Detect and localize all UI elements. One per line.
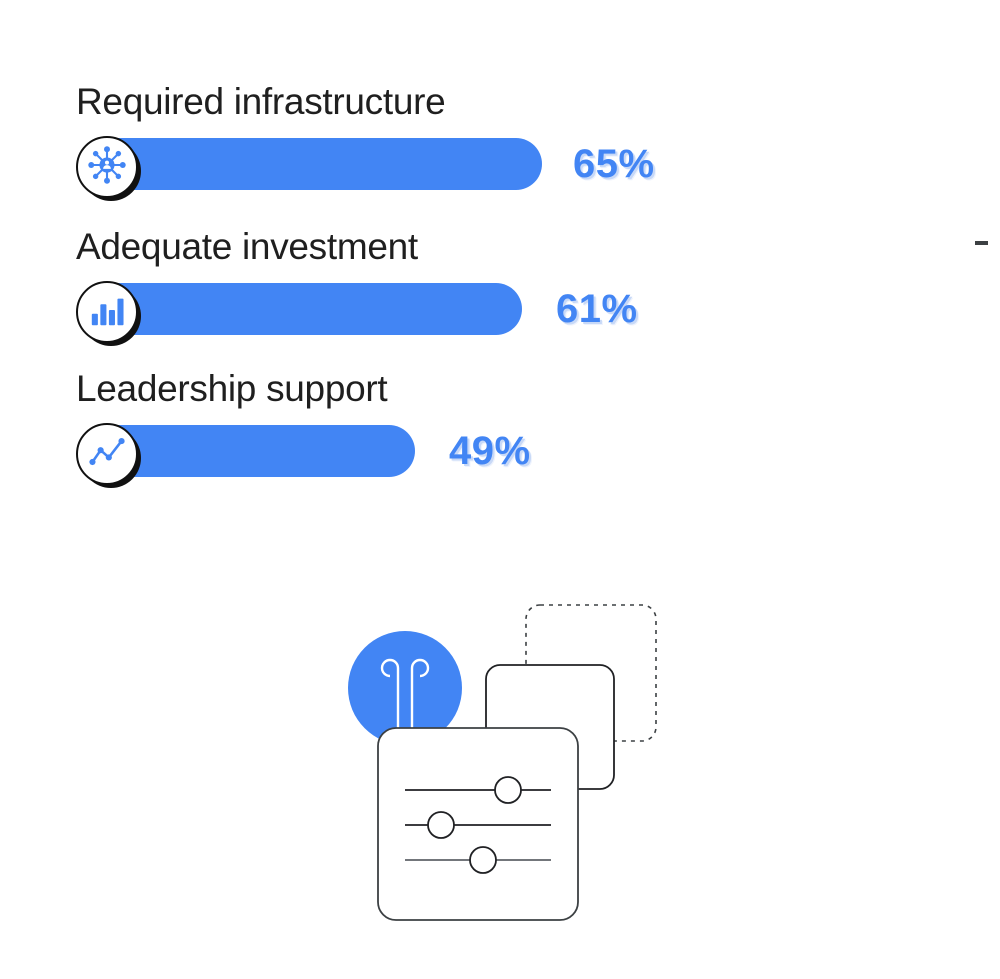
progress-track-required-infrastructure xyxy=(78,138,542,190)
progress-row-leadership-support: Leadership support 49% xyxy=(0,367,1000,497)
edge-tick-mark xyxy=(975,241,988,245)
slider-knob-3 xyxy=(470,847,496,873)
progress-row-required-infrastructure: Required infrastructure 65% xyxy=(0,80,1000,210)
line-chart-icon xyxy=(87,432,127,477)
progress-label-required-infrastructure: Required infrastructure xyxy=(76,80,445,124)
network-hub-icon-badge xyxy=(76,136,138,198)
bar-chart-icon-badge xyxy=(76,281,138,343)
slider-knob-2 xyxy=(428,812,454,838)
bar-chart-icon xyxy=(88,291,126,334)
progress-row-adequate-investment: Adequate investment 61% xyxy=(0,225,1000,355)
progress-value-required-infrastructure: 65% xyxy=(573,134,655,194)
infographic-canvas: Required infrastructure 65% Adequate inv… xyxy=(0,0,1000,979)
line-chart-icon-badge xyxy=(76,423,138,485)
progress-track-adequate-investment xyxy=(78,283,522,335)
progress-label-leadership-support: Leadership support xyxy=(76,367,387,411)
front-settings-card xyxy=(378,728,578,920)
network-hub-icon xyxy=(86,144,128,191)
progress-value-adequate-investment: 61% xyxy=(556,279,638,339)
progress-label-adequate-investment: Adequate investment xyxy=(76,225,418,269)
slider-knob-1 xyxy=(495,777,521,803)
progress-value-leadership-support: 49% xyxy=(449,421,531,481)
idea-settings-illustration xyxy=(300,580,700,950)
